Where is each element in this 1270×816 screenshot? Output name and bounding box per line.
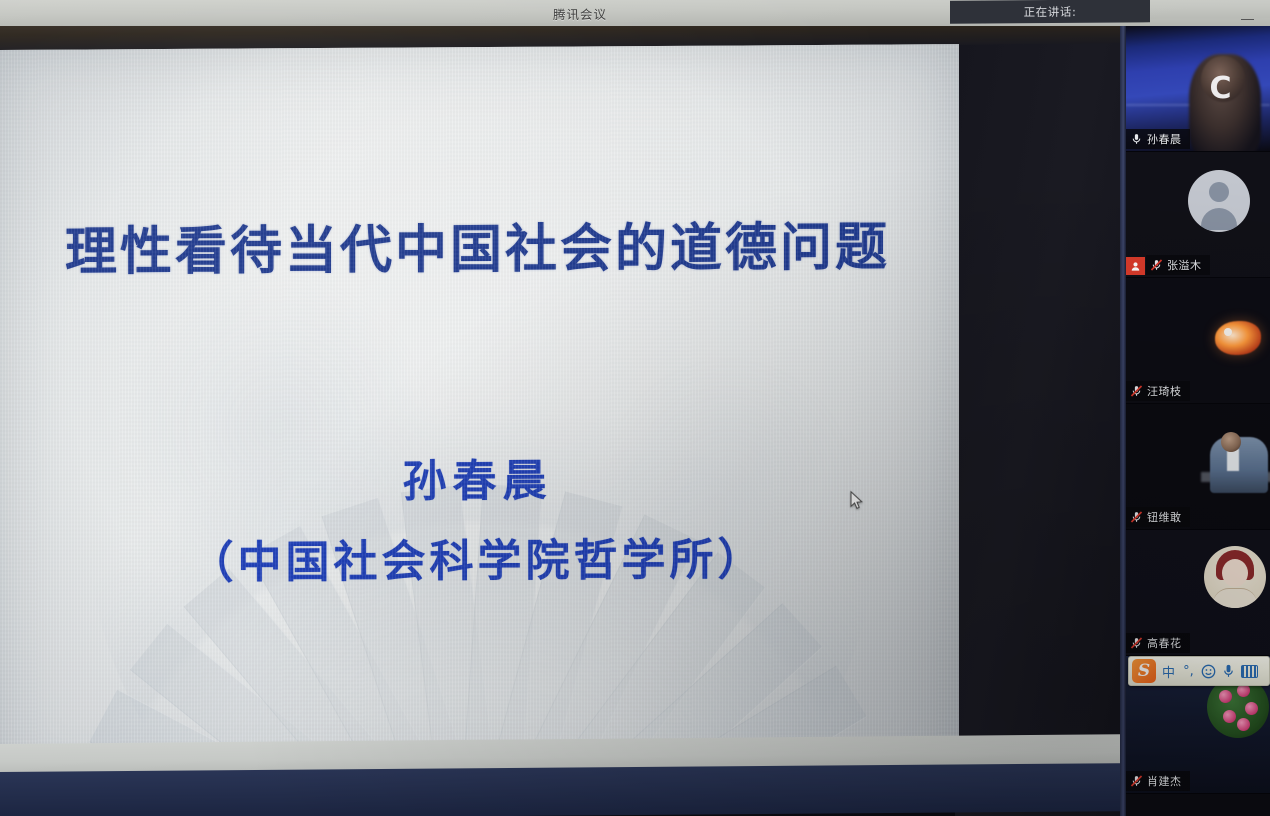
ime-microphone-icon[interactable] [1221, 660, 1236, 682]
microphone-muted-icon [1130, 636, 1143, 650]
slide-affiliation: （中国社会科学院哲学所） [0, 522, 959, 592]
participant-name: 钮维敢 [1147, 509, 1182, 525]
portrait-avatar [1204, 546, 1266, 608]
participant-tile[interactable]: 张溢木 [1126, 152, 1270, 278]
ime-chinese-mode-icon[interactable]: 中 [1161, 660, 1176, 682]
ime-keyboard-icon[interactable] [1241, 665, 1258, 678]
speaking-label: 正在讲话: [1024, 3, 1077, 19]
participant-video-rail[interactable]: C 孙春晨 [1126, 26, 1270, 816]
participant-name: 高春花 [1147, 635, 1182, 651]
host-badge [1126, 257, 1145, 275]
slide-title: 理性看待当代中国社会的道德问题 [0, 204, 959, 285]
sogou-logo-icon[interactable]: S [1132, 659, 1156, 683]
speaking-indicator: 正在讲话: [950, 0, 1150, 24]
window-titlebar: 腾讯会议 正在讲话: [0, 0, 1270, 26]
ime-punctuation-icon[interactable]: °, [1181, 660, 1196, 682]
slide-author: 孙春晨 [0, 442, 959, 512]
nameplate: 高春花 [1126, 633, 1190, 653]
microphone-icon [1130, 132, 1143, 146]
participant-name: 肖建杰 [1147, 773, 1182, 789]
microphone-muted-icon [1130, 510, 1143, 524]
participant-tile[interactable]: 汪琦枝 [1126, 278, 1270, 404]
nameplate: 孙春晨 [1126, 129, 1190, 149]
nameplate: 汪琦枝 [1126, 381, 1190, 401]
mouse-cursor-icon [850, 491, 864, 511]
minimize-button[interactable] [1236, 4, 1258, 20]
participant-tile[interactable]: 高春花 [1126, 530, 1270, 656]
nameplate: 肖建杰 [1126, 771, 1190, 791]
ime-smiley-icon[interactable] [1201, 660, 1216, 682]
host-person-icon [1130, 261, 1141, 272]
participant-tile[interactable]: C 孙春晨 [1126, 26, 1270, 152]
projection-screen: 理性看待当代中国社会的道德问题 孙春晨 （中国社会科学院哲学所） [0, 44, 959, 790]
microphone-muted-icon [1150, 258, 1163, 272]
desk-navy-band [0, 763, 1135, 816]
wall-right [955, 24, 1130, 816]
participant-name: 汪琦枝 [1147, 383, 1182, 399]
participant-tile[interactable]: S 中 °, [1126, 656, 1270, 794]
participant-name: 张溢木 [1167, 257, 1202, 273]
microphone-muted-icon [1130, 384, 1143, 398]
participant-tile[interactable]: 钮维敢 [1126, 404, 1270, 530]
default-avatar [1188, 170, 1250, 232]
fish-avatar [1215, 321, 1261, 355]
meeting-screenshot-root: 理性看待当代中国社会的道德问题 孙春晨 （中国社会科学院哲学所） 腾讯会议 正在… [0, 0, 1270, 816]
sogou-ime-toolbar[interactable]: S 中 °, [1128, 656, 1270, 686]
letter-c-overlay: C [1210, 74, 1232, 104]
participant-name: 孙春晨 [1147, 131, 1182, 147]
nameplate: 钮维敢 [1126, 507, 1190, 527]
nameplate: 张溢木 [1146, 255, 1210, 275]
microphone-muted-icon [1130, 774, 1143, 788]
